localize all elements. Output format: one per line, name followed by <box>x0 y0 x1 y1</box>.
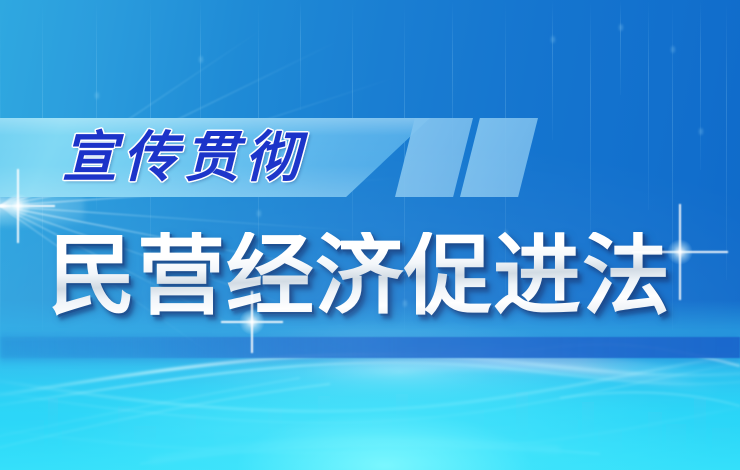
banner-chevron-2 <box>460 118 538 197</box>
particle-streak <box>700 0 701 170</box>
particle-dot <box>95 92 99 99</box>
particle-dot <box>257 210 261 217</box>
horizon-band <box>0 337 740 358</box>
particle-streak <box>648 0 649 210</box>
eyebrow-text: 宣传贯彻 <box>62 122 306 194</box>
particle-dot <box>671 46 675 53</box>
particle-streak <box>590 0 591 260</box>
particle-dot <box>619 24 623 31</box>
particle-dot <box>199 56 203 63</box>
particle-streak <box>726 0 727 280</box>
main-title: 民营经济促进法 <box>48 232 708 324</box>
particle-dot <box>551 36 555 43</box>
particle-streak <box>620 0 621 95</box>
particle-streak <box>552 0 553 140</box>
lower-core-glow <box>0 355 740 470</box>
particle-streak <box>300 0 301 110</box>
particle-dot <box>699 128 703 135</box>
poster-canvas: 宣传贯彻 民营经济促进法 民营经济促进法 <box>0 0 740 470</box>
